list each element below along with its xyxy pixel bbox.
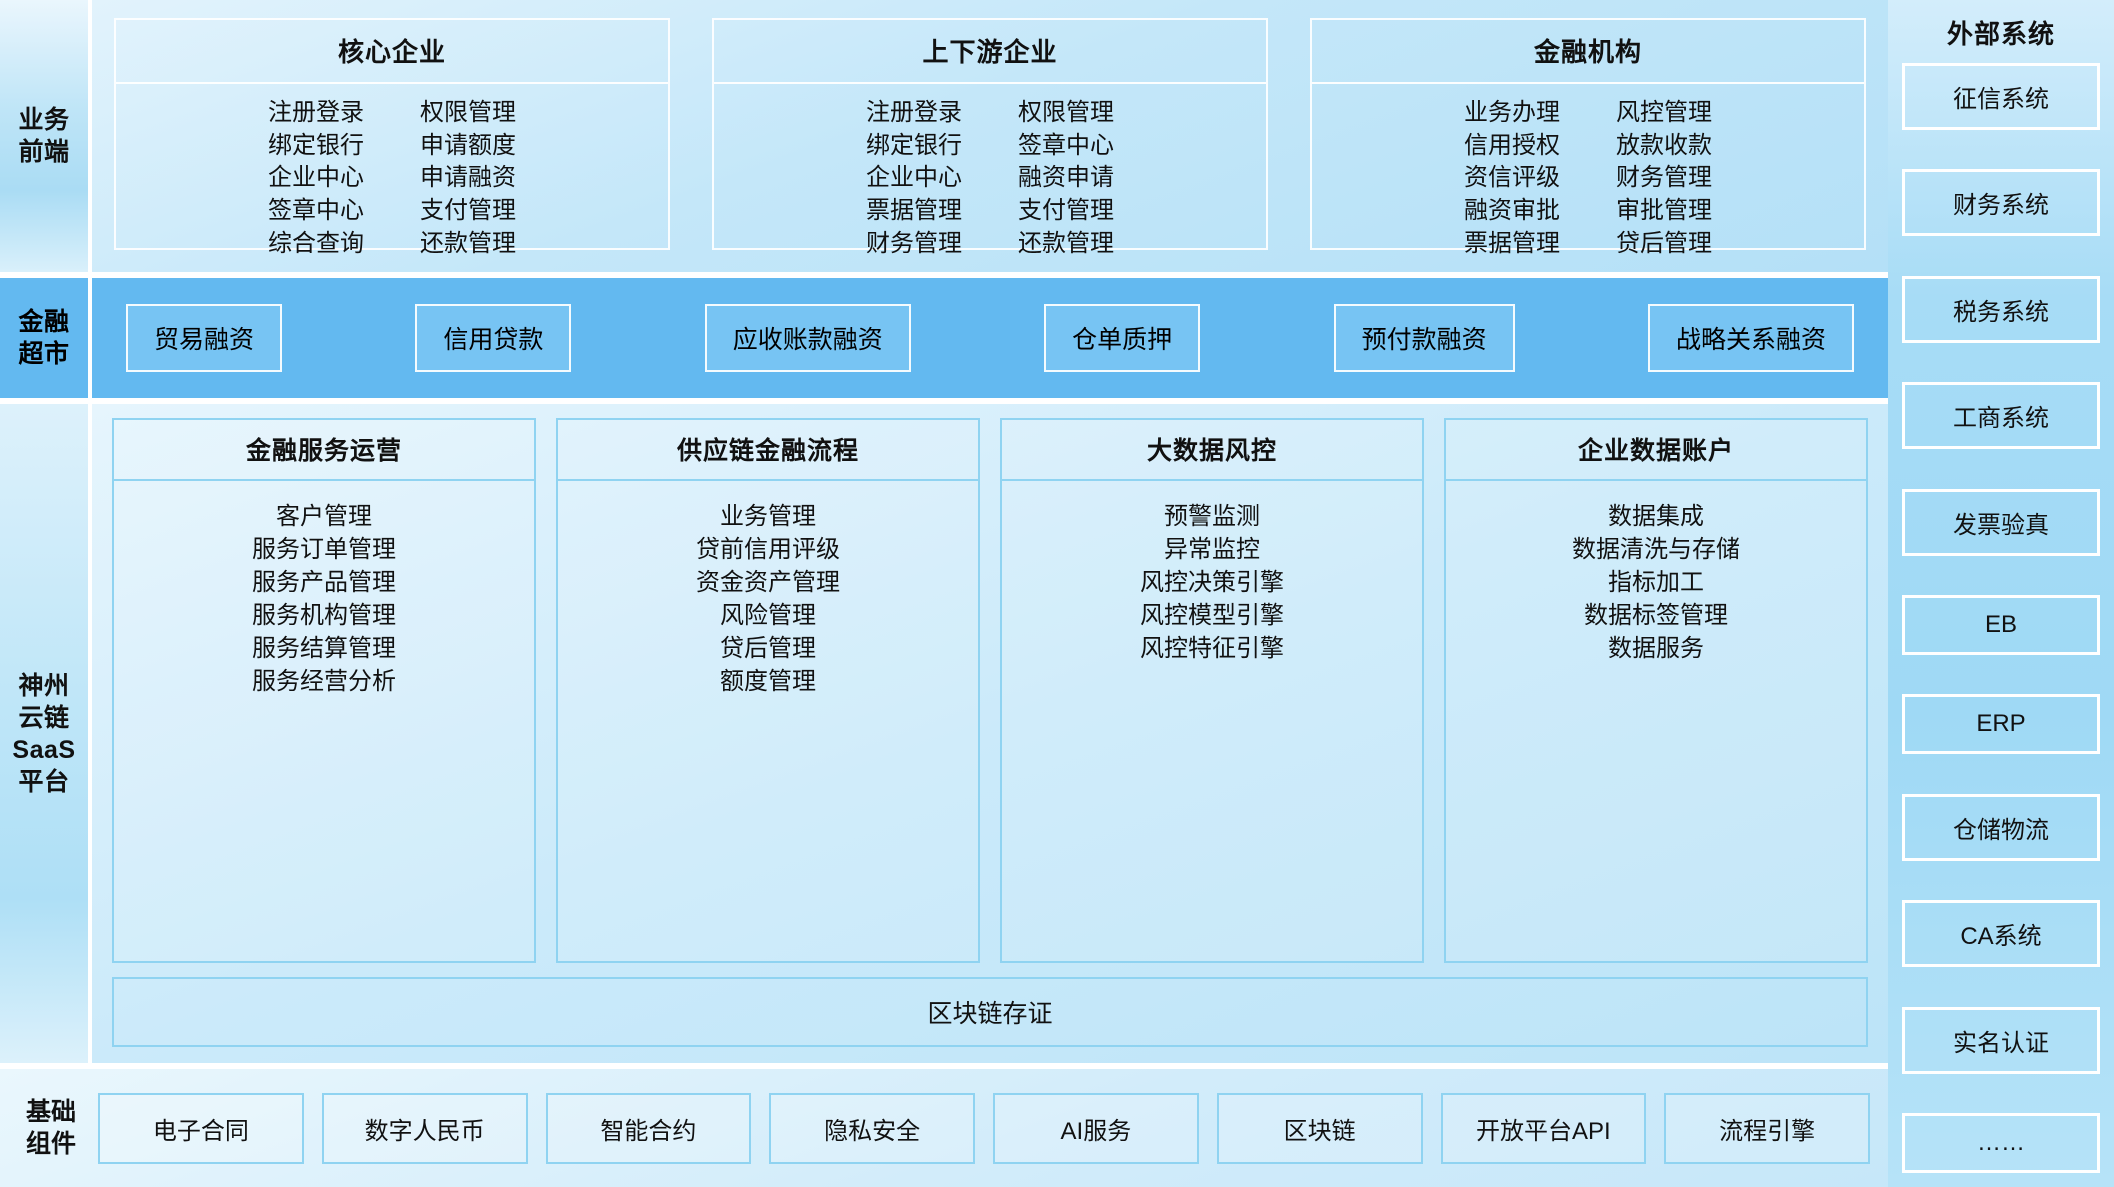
list-item[interactable]: 风控决策引擎 xyxy=(1140,567,1284,599)
saas-card-enterprise-data-account[interactable]: 企业数据账户 数据集成 数据清洗与存储 指标加工 数据标签管理 数据服务 xyxy=(1444,418,1868,963)
financial-supermarket-label-line-1: 金融 xyxy=(18,308,69,336)
list-item[interactable]: 业务管理 xyxy=(720,501,816,533)
list-item[interactable]: 资信评级 xyxy=(1464,163,1560,194)
list-item[interactable]: 融资申请 xyxy=(1018,163,1114,194)
blockchain-evidence-bar[interactable]: 区块链存证 xyxy=(112,977,1868,1047)
list-item[interactable]: 申请融资 xyxy=(420,163,516,194)
market-chip-strategic-relationship-finance[interactable]: 战略关系融资 xyxy=(1648,304,1854,372)
base-chip-digital-rmb[interactable]: 数字人民币 xyxy=(322,1093,528,1164)
architecture-diagram: 业务 前端 核心企业 注册登录 绑定银行 企业中心 签章中心 综合查询 xyxy=(0,0,2114,1187)
business-frontend-label-line-2: 前端 xyxy=(18,138,69,166)
card-title: 金融机构 xyxy=(1312,20,1864,84)
list-item[interactable]: 服务产品管理 xyxy=(252,567,396,599)
card-column-right: 权限管理 申请额度 申请融资 支付管理 还款管理 xyxy=(420,98,516,260)
list-item[interactable]: 风险管理 xyxy=(720,600,816,632)
saas-card-supply-chain-finance-process[interactable]: 供应链金融流程 业务管理 贷前信用评级 资金资产管理 风险管理 贷后管理 额度管… xyxy=(556,418,980,963)
list-item[interactable]: 财务管理 xyxy=(866,229,962,260)
frontend-card-financial-institution[interactable]: 金融机构 业务办理 信用授权 资信评级 融资审批 票据管理 风控管理 放款收款 xyxy=(1310,18,1866,250)
list-item[interactable]: 权限管理 xyxy=(1018,98,1114,129)
financial-supermarket-row: 金融 超市 贸易融资 信用贷款 应收账款融资 仓单质押 预付款融资 战略关系融资 xyxy=(0,278,1888,398)
business-frontend-row: 业务 前端 核心企业 注册登录 绑定银行 企业中心 签章中心 综合查询 xyxy=(0,0,1888,272)
external-chip-erp[interactable]: ERP xyxy=(1902,694,2100,754)
list-item[interactable]: 资金资产管理 xyxy=(696,567,840,599)
base-chip-electronic-contract[interactable]: 电子合同 xyxy=(98,1093,304,1164)
base-components-label-line-2: 组件 xyxy=(26,1130,76,1158)
saas-card-big-data-risk-control[interactable]: 大数据风控 预警监测 异常监控 风控决策引擎 风控模型引擎 风控特征引擎 xyxy=(1000,418,1424,963)
list-item[interactable]: 数据集成 xyxy=(1608,501,1704,533)
base-chip-process-engine[interactable]: 流程引擎 xyxy=(1664,1093,1870,1164)
saas-platform-body: 金融服务运营 客户管理 服务订单管理 服务产品管理 服务机构管理 服务结算管理 … xyxy=(92,404,1888,1063)
business-frontend-cards: 核心企业 注册登录 绑定银行 企业中心 签章中心 综合查询 权限管理 申请额度 xyxy=(92,0,1888,272)
card-columns: 注册登录 绑定银行 企业中心 签章中心 综合查询 权限管理 申请额度 申请融资 … xyxy=(116,84,668,260)
card-column-left: 业务办理 信用授权 资信评级 融资审批 票据管理 xyxy=(1464,98,1560,260)
market-chip-prepayment-finance[interactable]: 预付款融资 xyxy=(1334,304,1515,372)
saas-card-grid: 金融服务运营 客户管理 服务订单管理 服务产品管理 服务机构管理 服务结算管理 … xyxy=(112,418,1868,963)
list-item[interactable]: 绑定银行 xyxy=(866,131,962,162)
external-systems-title: 外部系统 xyxy=(1947,6,2055,63)
list-item[interactable]: 签章中心 xyxy=(1018,131,1114,162)
external-chip-more[interactable]: …… xyxy=(1902,1113,2100,1173)
list-item[interactable]: 注册登录 xyxy=(866,98,962,129)
list-item[interactable]: 放款收款 xyxy=(1616,131,1712,162)
financial-supermarket-label: 金融 超市 xyxy=(0,278,88,398)
list-item[interactable]: 支付管理 xyxy=(1018,196,1114,227)
card-column-right: 风控管理 放款收款 财务管理 审批管理 贷后管理 xyxy=(1616,98,1712,260)
card-list: 预警监测 异常监控 风控决策引擎 风控模型引擎 风控特征引擎 xyxy=(1002,481,1422,961)
list-item[interactable]: 企业中心 xyxy=(866,163,962,194)
card-title: 核心企业 xyxy=(116,20,668,84)
market-chip-receivables-finance[interactable]: 应收账款融资 xyxy=(705,304,911,372)
list-item[interactable]: 客户管理 xyxy=(276,501,372,533)
list-item[interactable]: 票据管理 xyxy=(1464,229,1560,260)
external-chip-credit-reporting-system[interactable]: 征信系统 xyxy=(1902,63,2100,130)
list-item[interactable]: 服务订单管理 xyxy=(252,534,396,566)
list-item[interactable]: 预警监测 xyxy=(1164,501,1260,533)
saas-label-line-2: 云链 xyxy=(18,704,69,732)
saas-label-line-3: SaaS xyxy=(12,736,75,764)
card-column-left: 注册登录 绑定银行 企业中心 票据管理 财务管理 xyxy=(866,98,962,260)
base-components-label: 基础 组件 xyxy=(26,1096,80,1160)
list-item[interactable]: 服务经营分析 xyxy=(252,666,396,698)
card-title: 金融服务运营 xyxy=(114,420,534,481)
business-frontend-label-line-1: 业务 xyxy=(18,106,69,134)
list-item[interactable]: 信用授权 xyxy=(1464,131,1560,162)
saas-platform-row: 神州 云链 SaaS 平台 金融服务运营 客户管理 服务订单管理 服务产品管理 … xyxy=(0,404,1888,1063)
base-components-row: 基础 组件 电子合同 数字人民币 智能合约 隐私安全 AI服务 区块链 开放平台… xyxy=(0,1069,1888,1187)
external-systems-list: 征信系统 财务系统 税务系统 工商系统 发票验真 EB ERP 仓储物流 CA系… xyxy=(1902,63,2100,1177)
list-item[interactable]: 风控特征引擎 xyxy=(1140,633,1284,665)
list-item[interactable]: 签章中心 xyxy=(268,196,364,227)
external-chip-real-name-authentication[interactable]: 实名认证 xyxy=(1902,1007,2100,1074)
list-item[interactable]: 数据清洗与存储 xyxy=(1572,534,1740,566)
card-column-left: 注册登录 绑定银行 企业中心 签章中心 综合查询 xyxy=(268,98,364,260)
base-components-label-line-1: 基础 xyxy=(26,1098,76,1126)
list-item[interactable]: 票据管理 xyxy=(866,196,962,227)
list-item[interactable]: 异常监控 xyxy=(1164,534,1260,566)
list-item[interactable]: 支付管理 xyxy=(420,196,516,227)
main-architecture-column: 业务 前端 核心企业 注册登录 绑定银行 企业中心 签章中心 综合查询 xyxy=(0,0,1888,1187)
list-item[interactable]: 贷后管理 xyxy=(1616,229,1712,260)
card-title: 供应链金融流程 xyxy=(558,420,978,481)
base-chip-open-platform-api[interactable]: 开放平台API xyxy=(1441,1093,1647,1164)
external-systems-panel: 外部系统 征信系统 财务系统 税务系统 工商系统 发票验真 EB ERP 仓储物… xyxy=(1888,0,2114,1187)
list-item[interactable]: 融资审批 xyxy=(1464,196,1560,227)
external-chip-business-registration-system[interactable]: 工商系统 xyxy=(1902,382,2100,449)
card-title: 企业数据账户 xyxy=(1446,420,1866,481)
saas-card-financial-service-operations[interactable]: 金融服务运营 客户管理 服务订单管理 服务产品管理 服务机构管理 服务结算管理 … xyxy=(112,418,536,963)
card-columns: 注册登录 绑定银行 企业中心 票据管理 财务管理 权限管理 签章中心 融资申请 … xyxy=(714,84,1266,260)
list-item[interactable]: 风控管理 xyxy=(1616,98,1712,129)
list-item[interactable]: 贷前信用评级 xyxy=(696,534,840,566)
list-item[interactable]: 审批管理 xyxy=(1616,196,1712,227)
card-columns: 业务办理 信用授权 资信评级 融资审批 票据管理 风控管理 放款收款 财务管理 … xyxy=(1312,84,1864,260)
external-chip-warehouse-logistics[interactable]: 仓储物流 xyxy=(1902,794,2100,861)
list-item[interactable]: 业务办理 xyxy=(1464,98,1560,129)
saas-platform-label: 神州 云链 SaaS 平台 xyxy=(0,404,88,1063)
list-item[interactable]: 注册登录 xyxy=(268,98,364,129)
card-column-right: 权限管理 签章中心 融资申请 支付管理 还款管理 xyxy=(1018,98,1114,260)
frontend-card-core-enterprise[interactable]: 核心企业 注册登录 绑定银行 企业中心 签章中心 综合查询 权限管理 申请额度 xyxy=(114,18,670,250)
list-item[interactable]: 贷后管理 xyxy=(720,633,816,665)
list-item[interactable]: 财务管理 xyxy=(1616,163,1712,194)
external-chip-eb[interactable]: EB xyxy=(1902,595,2100,655)
financial-supermarket-chips: 贸易融资 信用贷款 应收账款融资 仓单质押 预付款融资 战略关系融资 xyxy=(92,278,1888,398)
list-item[interactable]: 权限管理 xyxy=(420,98,516,129)
list-item[interactable]: 还款管理 xyxy=(420,229,516,260)
business-frontend-label: 业务 前端 xyxy=(0,0,88,272)
external-chip-tax-system[interactable]: 税务系统 xyxy=(1902,276,2100,343)
base-chip-blockchain[interactable]: 区块链 xyxy=(1217,1093,1423,1164)
financial-supermarket-label-line-2: 超市 xyxy=(18,340,69,368)
base-chip-ai-service[interactable]: AI服务 xyxy=(993,1093,1199,1164)
list-item[interactable]: 额度管理 xyxy=(720,666,816,698)
list-item[interactable]: 申请额度 xyxy=(420,131,516,162)
card-list: 数据集成 数据清洗与存储 指标加工 数据标签管理 数据服务 xyxy=(1446,481,1866,961)
market-chip-credit-loan[interactable]: 信用贷款 xyxy=(415,304,571,372)
list-item[interactable]: 服务结算管理 xyxy=(252,633,396,665)
external-chip-finance-system[interactable]: 财务系统 xyxy=(1902,169,2100,236)
card-list: 业务管理 贷前信用评级 资金资产管理 风险管理 贷后管理 额度管理 xyxy=(558,481,978,961)
saas-label-line-1: 神州 xyxy=(18,672,69,700)
base-chip-smart-contract[interactable]: 智能合约 xyxy=(546,1093,752,1164)
base-chip-privacy-security[interactable]: 隐私安全 xyxy=(769,1093,975,1164)
list-item[interactable]: 企业中心 xyxy=(268,163,364,194)
saas-label-line-4: 平台 xyxy=(18,768,69,796)
market-chip-trade-finance[interactable]: 贸易融资 xyxy=(126,304,282,372)
external-chip-invoice-verification[interactable]: 发票验真 xyxy=(1902,489,2100,556)
card-list: 客户管理 服务订单管理 服务产品管理 服务机构管理 服务结算管理 服务经营分析 xyxy=(114,481,534,961)
list-item[interactable]: 指标加工 xyxy=(1608,567,1704,599)
list-item[interactable]: 还款管理 xyxy=(1018,229,1114,260)
list-item[interactable]: 风控模型引擎 xyxy=(1140,600,1284,632)
list-item[interactable]: 绑定银行 xyxy=(268,131,364,162)
list-item[interactable]: 数据标签管理 xyxy=(1584,600,1728,632)
list-item[interactable]: 数据服务 xyxy=(1608,633,1704,665)
list-item[interactable]: 服务机构管理 xyxy=(252,600,396,632)
external-chip-ca-system[interactable]: CA系统 xyxy=(1902,900,2100,967)
card-title: 大数据风控 xyxy=(1002,420,1422,481)
frontend-card-upstream-downstream-enterprise[interactable]: 上下游企业 注册登录 绑定银行 企业中心 票据管理 财务管理 权限管理 签章中心 xyxy=(712,18,1268,250)
list-item[interactable]: 综合查询 xyxy=(268,229,364,260)
card-title: 上下游企业 xyxy=(714,20,1266,84)
market-chip-warehouse-receipt-pledge[interactable]: 仓单质押 xyxy=(1044,304,1200,372)
